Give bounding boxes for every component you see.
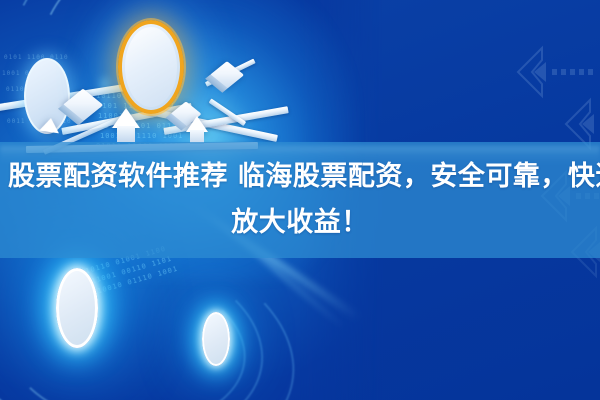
node-hub (118, 20, 184, 114)
banner-image: 0101 1100 0110 1001 0011 1010 0110 1101 … (0, 0, 600, 400)
node-marker-arrow-body (117, 126, 135, 142)
node-glow-large (56, 268, 98, 348)
caption-line-2: 放大收益！ (231, 201, 369, 245)
node-marker-arrow (112, 108, 140, 128)
node-marker-arrow (39, 117, 61, 134)
chevron-motif-icon (512, 44, 596, 100)
caption-block: 股票配资软件推荐 临海股票配资，安全可靠，快速 放大收益！ (0, 142, 600, 258)
caption-line-1: 股票配资软件推荐 临海股票配资，安全可靠，快速 (8, 155, 600, 199)
code-texture-left: 0101 1100 0110 (4, 54, 69, 61)
node-hub-inner (125, 27, 177, 107)
node-glow-small (202, 312, 230, 366)
